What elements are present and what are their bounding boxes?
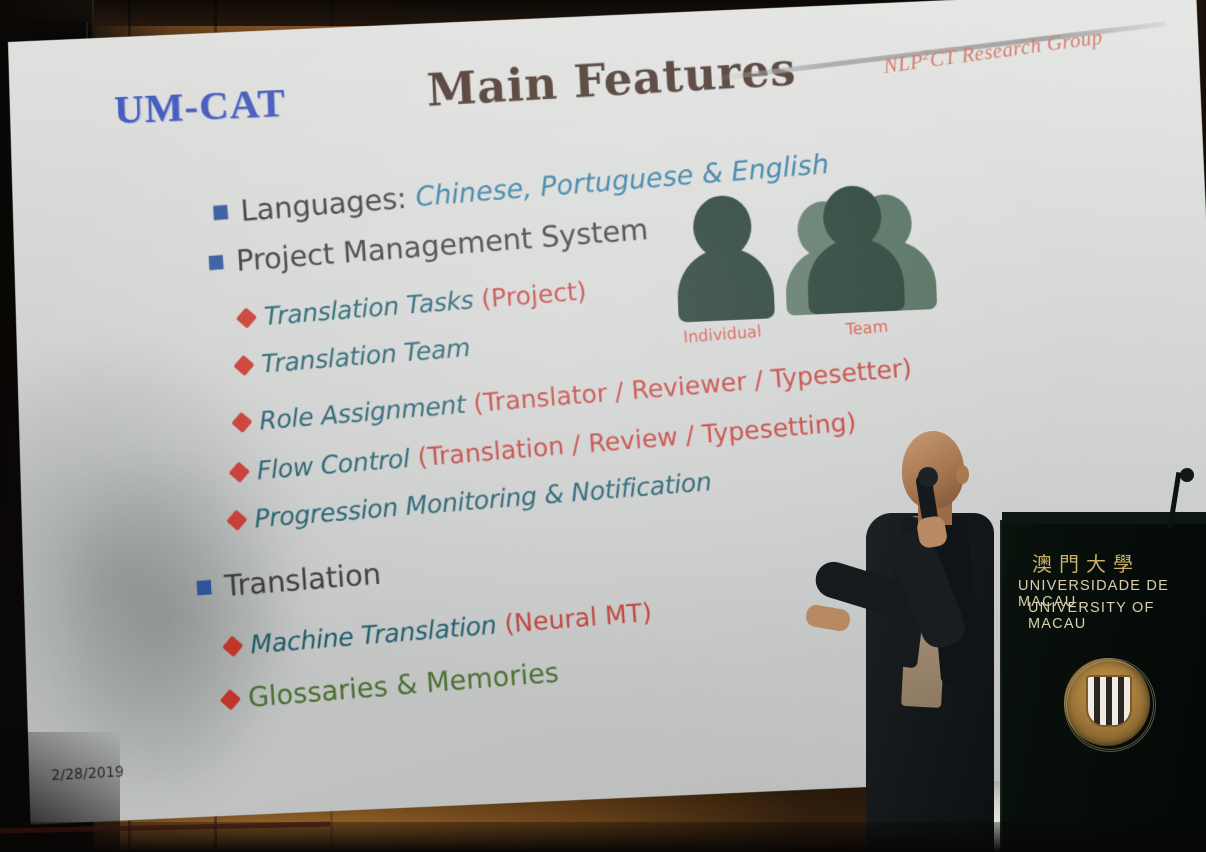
bullet-label: Languages: (239, 181, 407, 228)
podium-mic-head (1180, 468, 1194, 482)
individual-person-icon (672, 193, 777, 318)
diamond-bullet-icon (220, 689, 241, 711)
person-body (676, 246, 775, 323)
team-caption: Team (845, 316, 889, 338)
team-people-icon (794, 183, 929, 313)
bullet-label: Translation Tasks (263, 285, 474, 331)
bullet-paren: (Neural MT) (503, 597, 653, 638)
square-bullet-icon (197, 580, 212, 595)
podium-top-edge (1002, 512, 1206, 524)
diamond-bullet-icon (231, 412, 252, 433)
podium-english-name: UNIVERSITY OF MACAU (1028, 600, 1206, 632)
bullet-glossaries-memories: Glossaries & Memories (222, 657, 560, 716)
foreground-shadow-bottom (0, 822, 1206, 852)
presenter-pointing-hand (804, 603, 851, 632)
bullet-label: Glossaries & Memories (247, 657, 560, 714)
bullet-label: Machine Translation (249, 610, 497, 660)
bullet-label: Flow Control (256, 444, 411, 486)
conference-room-photo: U C U UM-CAT Main Features NLP2CT Resear… (0, 0, 1206, 852)
diamond-bullet-icon (236, 307, 257, 328)
microphone-head (918, 467, 938, 487)
bullet-label: Translation Team (260, 333, 471, 379)
bullet-paren: (Project) (480, 276, 587, 314)
square-bullet-icon (213, 205, 228, 220)
diamond-bullet-icon (226, 510, 247, 531)
bullet-label: Role Assignment (258, 390, 466, 436)
people-icon-group: Individual Team (662, 187, 919, 369)
bullet-machine-translation: Machine Translation (Neural MT) (224, 597, 653, 661)
square-bullet-icon (209, 255, 224, 270)
bullet-label: Translation (223, 556, 382, 603)
crest-shield (1086, 675, 1132, 727)
diamond-bullet-icon (229, 461, 250, 482)
individual-caption: Individual (683, 322, 762, 347)
diamond-bullet-icon (233, 355, 254, 376)
bullet-translation-tasks: Translation Tasks (Project) (238, 276, 588, 333)
podium-chinese-name: 澳門大學 (1032, 548, 1140, 577)
bullet-translation: Translation (196, 556, 382, 605)
presenter-ear (956, 465, 969, 484)
diamond-bullet-icon (222, 636, 243, 657)
university-crest (1064, 658, 1150, 746)
bullet-translation-team: Translation Team (235, 333, 471, 381)
lectern-podium: 澳門大學 UNIVERSIDADE DE MACAU UNIVERSITY OF… (1000, 520, 1206, 852)
